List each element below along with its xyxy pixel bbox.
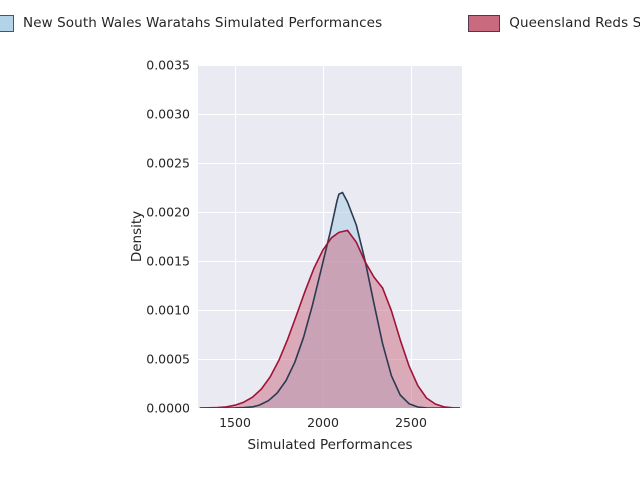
legend-swatch-waratahs	[0, 15, 14, 32]
chart-legend: New South Wales Waratahs Simulated Perfo…	[0, 8, 640, 38]
ytick-label-4: 0.0020	[146, 205, 190, 220]
ytick-label-7: 0.0035	[146, 58, 190, 73]
legend-label-reds: Queensland Reds Simulated Performances	[509, 15, 640, 31]
xtick-label-1500: 1500	[219, 415, 251, 430]
legend-entry-waratahs: New South Wales Waratahs Simulated Perfo…	[0, 15, 382, 32]
ytick-label-1: 0.0005	[146, 352, 190, 367]
ytick-label-0: 0.0000	[146, 401, 190, 416]
ytick-label-5: 0.0025	[146, 156, 190, 171]
xtick-label-2500: 2500	[395, 415, 427, 430]
gridline-y-0	[198, 408, 462, 409]
x-axis-label: Simulated Performances	[198, 437, 462, 453]
plot-axes: 0.0000 0.0005 0.0010 0.0015 0.0020 0.002…	[198, 65, 462, 408]
density-area-reds	[200, 230, 460, 408]
y-axis-label: Density	[129, 65, 145, 408]
ytick-label-2: 0.0010	[146, 303, 190, 318]
density-curves	[198, 65, 462, 408]
density-plot-figure: New South Wales Waratahs Simulated Perfo…	[0, 0, 640, 480]
legend-label-waratahs: New South Wales Waratahs Simulated Perfo…	[23, 15, 382, 31]
legend-swatch-reds	[468, 15, 500, 32]
ytick-label-3: 0.0015	[146, 254, 190, 269]
legend-entry-reds: Queensland Reds Simulated Performances	[468, 15, 640, 32]
xtick-label-2000: 2000	[307, 415, 339, 430]
ytick-label-6: 0.0030	[146, 107, 190, 122]
